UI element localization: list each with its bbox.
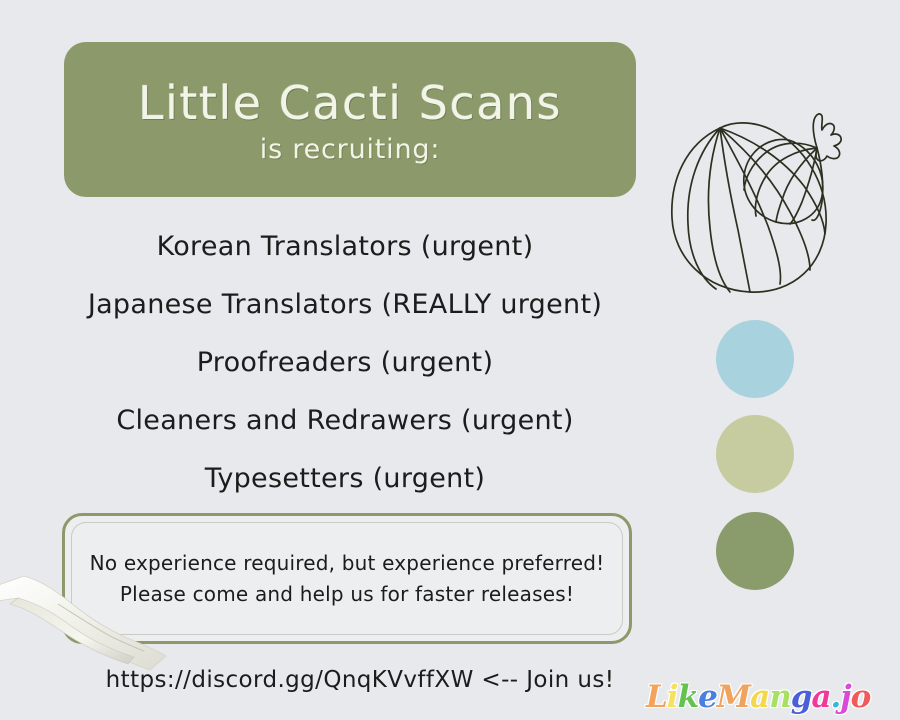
header-banner: Little Cacti Scans is recruiting: — [64, 42, 636, 197]
color-swatch-light-blue — [716, 320, 794, 398]
watermark-letter: n — [769, 679, 791, 715]
watermark-letter: j — [840, 679, 850, 715]
watermark-letter: g — [791, 679, 812, 715]
list-item: Japanese Translators (REALLY urgent) — [88, 276, 602, 334]
list-item: Proofreaders (urgent) — [197, 334, 494, 392]
list-item: Typesetters (urgent) — [205, 450, 485, 508]
color-swatch-khaki-sage — [716, 415, 794, 493]
cactus-illustration — [662, 40, 900, 310]
watermark-letter: o — [851, 679, 871, 715]
watermark-letter: L — [646, 679, 667, 715]
discord-invite-link[interactable]: https://discord.gg/QnqKVvffXW <-- Join u… — [0, 667, 720, 693]
page-subtitle: is recruiting: — [260, 134, 440, 165]
watermark-letter: e — [698, 679, 717, 715]
note-line-1: No experience required, but experience p… — [90, 552, 605, 575]
watermark-letter: i — [667, 679, 678, 715]
watermark-letter: a — [750, 679, 769, 715]
page-title: Little Cacti Scans — [138, 78, 562, 129]
list-item: Cleaners and Redrawers (urgent) — [116, 392, 573, 450]
watermark-letter: M — [717, 679, 750, 715]
note-line-2: Please come and help us for faster relea… — [120, 583, 574, 606]
list-item: Korean Translators (urgent) — [157, 218, 534, 276]
watermark-letter: a — [811, 679, 830, 715]
watermark-letter: . — [831, 679, 841, 715]
roles-list: Korean Translators (urgent) Japanese Tra… — [40, 218, 650, 508]
recruitment-poster: Little Cacti Scans is recruiting: Korean… — [0, 0, 900, 720]
watermark-letter: k — [678, 679, 698, 715]
note-box-inner: No experience required, but experience p… — [71, 522, 623, 635]
note-box: No experience required, but experience p… — [62, 513, 632, 644]
color-swatch-olive-green — [716, 512, 794, 590]
site-watermark: LikeManga.jo — [646, 682, 870, 713]
